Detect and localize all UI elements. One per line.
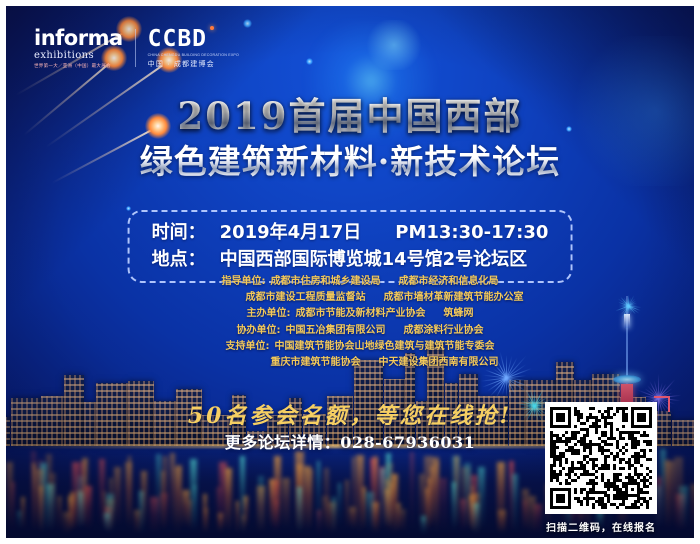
promo-poster: informa exhibitions 世界第一大／亚洲（中国）最大展会 CCB… [0,0,700,544]
organization-label: 支持单位: [206,339,270,355]
organization-name: 成都市建设工程质量监督站 [246,292,366,303]
ccbd-wordmark: CCBD [148,28,207,51]
qr-code-canvas[interactable] [550,407,652,509]
organization-label: 主办单位: [227,306,291,322]
organization-values: 中国五冶集团有限公司成都涂料行业协会 [286,323,484,339]
organization-values: 成都市建设工程质量监督站成都市墙材革新建筑节能办公室 [246,290,524,306]
event-time-label: 时间： [152,219,220,246]
organization-row: 支持单位:中国建筑节能协会山地绿色建筑与建筑节能专委会 [6,339,694,355]
organization-name: 成都市节能及新材料产业协会 [296,308,426,319]
organization-values: 成都市节能及新材料产业协会筑蜂网 [296,306,474,322]
organization-name: 重庆市建筑节能协会 [271,357,361,368]
organization-label: 指导单位: [202,274,266,290]
organization-row: 指导单位:成都市住房和城乡建设局成都市经济和信息化局 [6,274,694,290]
organization-name: 中天建设集团西南有限公司 [379,357,499,368]
poster-frame: informa exhibitions 世界第一大／亚洲（中国）最大展会 CCB… [6,6,694,538]
event-info-box: 时间： 2019年4月17日 PM13:30-17:30 地点： 中国西部国际博… [128,210,573,283]
event-time-range: PM13:30-17:30 [395,219,548,246]
informa-logo: informa exhibitions 世界第一大／亚洲（中国）最大展会 [34,28,123,69]
organization-row: 支持单位:重庆市建筑节能协会中天建设集团西南有限公司 [6,355,694,371]
organization-name: 成都涂料行业协会 [404,325,484,336]
organization-name: 成都市墙材革新建筑节能办公室 [384,292,524,303]
organization-name: 成都市经济和信息化局 [399,276,499,287]
title-line-1: 2019首届中国西部 [6,96,694,137]
logo-divider [135,29,136,67]
qr-caption: 扫描二维码，在线报名 [536,519,666,534]
organization-values: 重庆市建筑节能协会中天建设集团西南有限公司 [271,355,499,371]
event-place-row: 地点： 中国西部国际博览城14号馆2号论坛区 [152,246,549,273]
organization-name: 成都市住房和城乡建设局 [271,276,381,287]
ccbd-english-name: CHINA CHENGDU BUILDING DECORATION EXPO [148,54,239,58]
event-place-label: 地点： [152,246,220,273]
event-date-value: 2019年4月17日 [220,219,362,246]
qr-block[interactable]: 扫描二维码，在线报名 [536,402,666,534]
organization-name: 中国建筑节能协会山地绿色建筑与建筑节能专委会 [275,341,495,352]
organization-row: 协办单位:中国五冶集团有限公司成都涂料行业协会 [6,323,694,339]
organization-name: 中国五冶集团有限公司 [286,325,386,336]
title-line-2: 绿色建筑新材料·新技术论坛 [6,143,694,181]
organization-label: 协办单位: [217,323,281,339]
ccbd-wordmark-text: CCBD [148,26,207,52]
ccbd-logo: CCBD CHINA CHENGDU BUILDING DECORATION E… [148,28,239,68]
event-time-row: 时间： 2019年4月17日 PM13:30-17:30 [152,219,549,246]
organization-row: 主办单位:成都市节能及新材料产业协会筑蜂网 [6,306,694,322]
informa-subtitle: exhibitions [34,51,94,61]
logo-bar: informa exhibitions 世界第一大／亚洲（中国）最大展会 CCB… [34,28,239,69]
informa-wordmark: informa [34,28,123,49]
organization-values: 成都市住房和城乡建设局成都市经济和信息化局 [271,274,499,290]
qr-code-image[interactable] [545,402,657,514]
organization-values: 中国建筑节能协会山地绿色建筑与建筑节能专委会 [275,339,495,355]
event-place-value: 中国西部国际博览城14号馆2号论坛区 [220,246,528,273]
ccbd-chinese-name: 中国 · 成都建博会 [148,61,215,68]
qr-corner-bracket-icon [654,396,670,412]
title-block: 2019首届中国西部 绿色建筑新材料·新技术论坛 [6,96,694,181]
ccbd-dot-icon [210,26,214,30]
organization-name: 筑蜂网 [444,308,474,319]
organization-list: 指导单位:成都市住房和城乡建设局成都市经济和信息化局指导单位:成都市建设工程质量… [6,274,694,371]
informa-tagline: 世界第一大／亚洲（中国）最大展会 [34,64,111,69]
organization-row: 指导单位:成都市建设工程质量监督站成都市墙材革新建筑节能办公室 [6,290,694,306]
